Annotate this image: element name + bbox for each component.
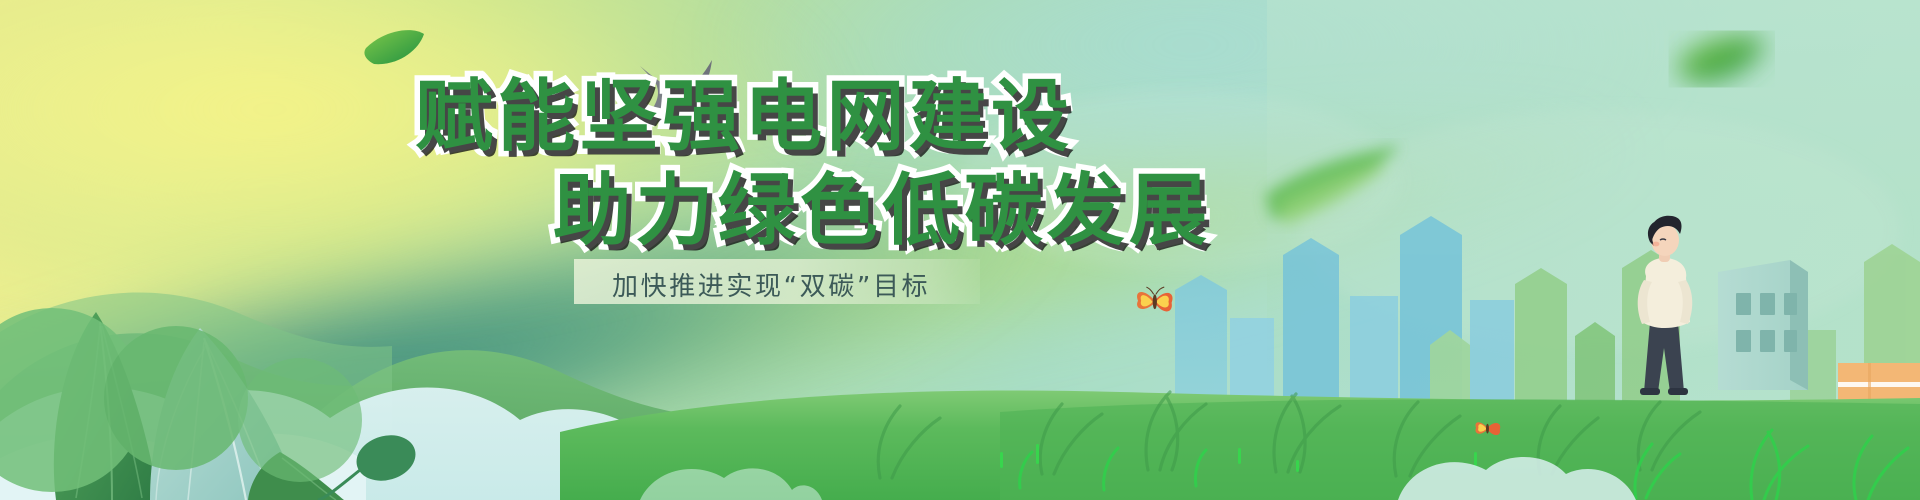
floating-leaf-top-right-icon xyxy=(1678,36,1766,83)
butterfly-center-icon xyxy=(1137,287,1172,311)
pale-building xyxy=(1718,260,1808,390)
banner-root: 赋能坚强电网建设 助力绿色低碳发展 加快推进实现“双碳”目标 xyxy=(0,0,1920,500)
bush-cluster xyxy=(0,308,362,492)
subtitle-text: 加快推进实现“双碳”目标 xyxy=(612,266,930,303)
butterfly-right-icon xyxy=(1475,422,1500,435)
floating-leaf-top-left-icon xyxy=(364,30,424,64)
orange-crate xyxy=(1838,363,1920,400)
swallow-bird-icon xyxy=(632,60,716,118)
scenery-layer xyxy=(0,0,1920,500)
